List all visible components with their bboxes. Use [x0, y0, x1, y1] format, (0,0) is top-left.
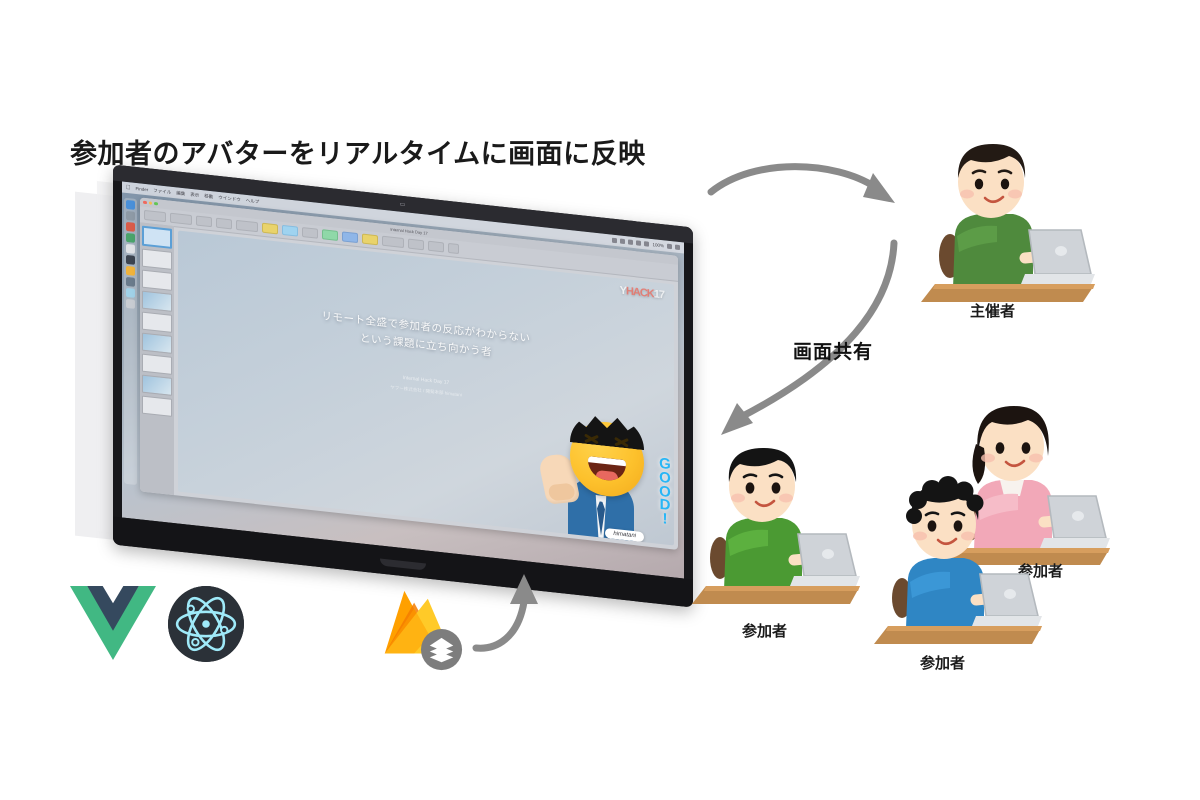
menubar-item-window[interactable]: ウインドウ	[218, 194, 241, 202]
battery-percent-label: 100%	[652, 242, 664, 248]
dock-trash-icon[interactable]	[126, 299, 135, 309]
apple-menu-icon[interactable]: 	[126, 184, 131, 190]
label-participant-2: 参加者	[920, 652, 965, 673]
vue-logo	[70, 586, 156, 660]
dock-launchpad-icon[interactable]	[126, 211, 135, 221]
screen-share-illustration: ▭  Finder ファイル 編集 表示 移動 ウインドウ ヘルプ	[75, 196, 695, 596]
menubar-item-finder[interactable]: Finder	[136, 186, 149, 192]
label-participant-1: 参加者	[742, 620, 787, 641]
app-body: YHACK17 リモート全盛で参加者の反応がわからない という課題に立ち向かう者…	[140, 222, 678, 549]
avatar-name-tag: himatani	[605, 528, 644, 542]
desktop-screen:  Finder ファイル 編集 表示 移動 ウインドウ ヘルプ 100%	[122, 181, 684, 578]
dropbox-status-icon[interactable]	[612, 238, 617, 244]
toolbar-tips-button[interactable]	[428, 241, 444, 253]
slide-navigator[interactable]	[140, 222, 174, 495]
menubar-item-edit[interactable]: 編集	[176, 190, 185, 197]
toolbar-add-slide-button[interactable]	[170, 213, 192, 225]
slide-thumbnail[interactable]	[142, 270, 172, 291]
toolbar-comment-button[interactable]	[362, 234, 378, 246]
dock-mail-icon[interactable]	[126, 222, 135, 232]
person-organizer	[905, 138, 1095, 303]
presentation-app-window: Internal Hack Day 17	[140, 197, 678, 549]
label-organizer: 主催者	[970, 300, 1015, 321]
bluetooth-status-icon[interactable]	[636, 240, 641, 246]
menubar-item-go[interactable]: 移動	[204, 193, 213, 200]
slide-thumbnail[interactable]	[142, 333, 172, 354]
reaction-good-text: G O O D !	[654, 456, 674, 527]
reaction-letter: !	[663, 512, 668, 526]
slide-canvas: 参加者のアバターをリアルタイムに画面に反映 ▭  Finder ファイル 編集…	[0, 0, 1200, 800]
toolbar-zoom-select[interactable]	[144, 210, 166, 222]
person-participant-1	[680, 440, 860, 605]
toolbar-share-button[interactable]	[408, 239, 424, 251]
slide-thumbnail[interactable]	[142, 396, 172, 417]
menubar-item-view[interactable]: 表示	[190, 191, 199, 198]
slide-thumbnail[interactable]	[142, 354, 172, 375]
screen-share-label: 画面共有	[793, 337, 873, 364]
dock-keynote-icon[interactable]	[126, 266, 135, 276]
hackday-logo: YHACK17	[620, 285, 664, 302]
arrow-firebase-to-screen	[468, 560, 558, 655]
toolbar-view-button[interactable]	[196, 216, 212, 228]
avatar-eye-right	[614, 436, 629, 449]
dock-finder-icon[interactable]	[126, 200, 135, 210]
active-slide-canvas: YHACK17 リモート全盛で参加者の反応がわからない という課題に立ち向かう者…	[178, 231, 674, 546]
page-title: 参加者のアバターをリアルタイムに画面に反映	[70, 132, 646, 171]
macos-dock[interactable]	[124, 198, 137, 485]
realtime-avatar: himatani	[540, 395, 660, 546]
electron-logo	[168, 586, 244, 662]
menubar-item-help[interactable]: ヘルプ	[246, 197, 260, 204]
toolbar-play-button[interactable]	[216, 218, 232, 230]
dock-terminal-icon[interactable]	[126, 255, 135, 265]
laptop-notch	[380, 559, 426, 571]
toolbar-table-button[interactable]	[282, 225, 298, 237]
toolbar-chart-button[interactable]	[322, 229, 338, 241]
toolbar-present-button[interactable]	[236, 220, 258, 232]
toolbar-media-button[interactable]	[342, 231, 358, 243]
dock-safari-icon[interactable]	[126, 288, 135, 298]
toolbar-shape-button[interactable]	[262, 223, 278, 235]
avatar-eye-left	[584, 433, 599, 446]
laptop-brand-label: ▭	[400, 200, 407, 208]
slide-thumbnail[interactable]	[142, 249, 172, 270]
arrow-organizer-to-participants	[695, 155, 925, 455]
wifi-status-icon[interactable]	[644, 241, 649, 247]
search-icon[interactable]	[667, 244, 672, 250]
firebase-logo	[370, 585, 470, 675]
dock-notes-icon[interactable]	[126, 244, 135, 254]
toolbar-collaborate-button[interactable]	[382, 236, 404, 248]
display-status-icon[interactable]	[628, 239, 633, 245]
tech-stack-logos	[60, 580, 270, 672]
dock-calendar-icon[interactable]	[126, 233, 135, 243]
laptop-device: ▭  Finder ファイル 編集 表示 移動 ウインドウ ヘルプ	[113, 164, 693, 607]
control-center-icon[interactable]	[675, 245, 680, 251]
gear-status-icon[interactable]	[620, 239, 625, 245]
toolbar-text-button[interactable]	[302, 227, 318, 239]
slide-thumbnail[interactable]	[142, 291, 172, 312]
slide-thumbnail[interactable]	[142, 375, 172, 396]
person-participant-2	[862, 470, 1042, 645]
menubar-item-file[interactable]: ファイル	[153, 187, 171, 195]
slide-thumbnail[interactable]	[142, 226, 172, 249]
slide-thumbnail[interactable]	[142, 312, 172, 333]
toolbar-format-button[interactable]	[448, 243, 459, 254]
dock-settings-icon[interactable]	[126, 277, 135, 287]
